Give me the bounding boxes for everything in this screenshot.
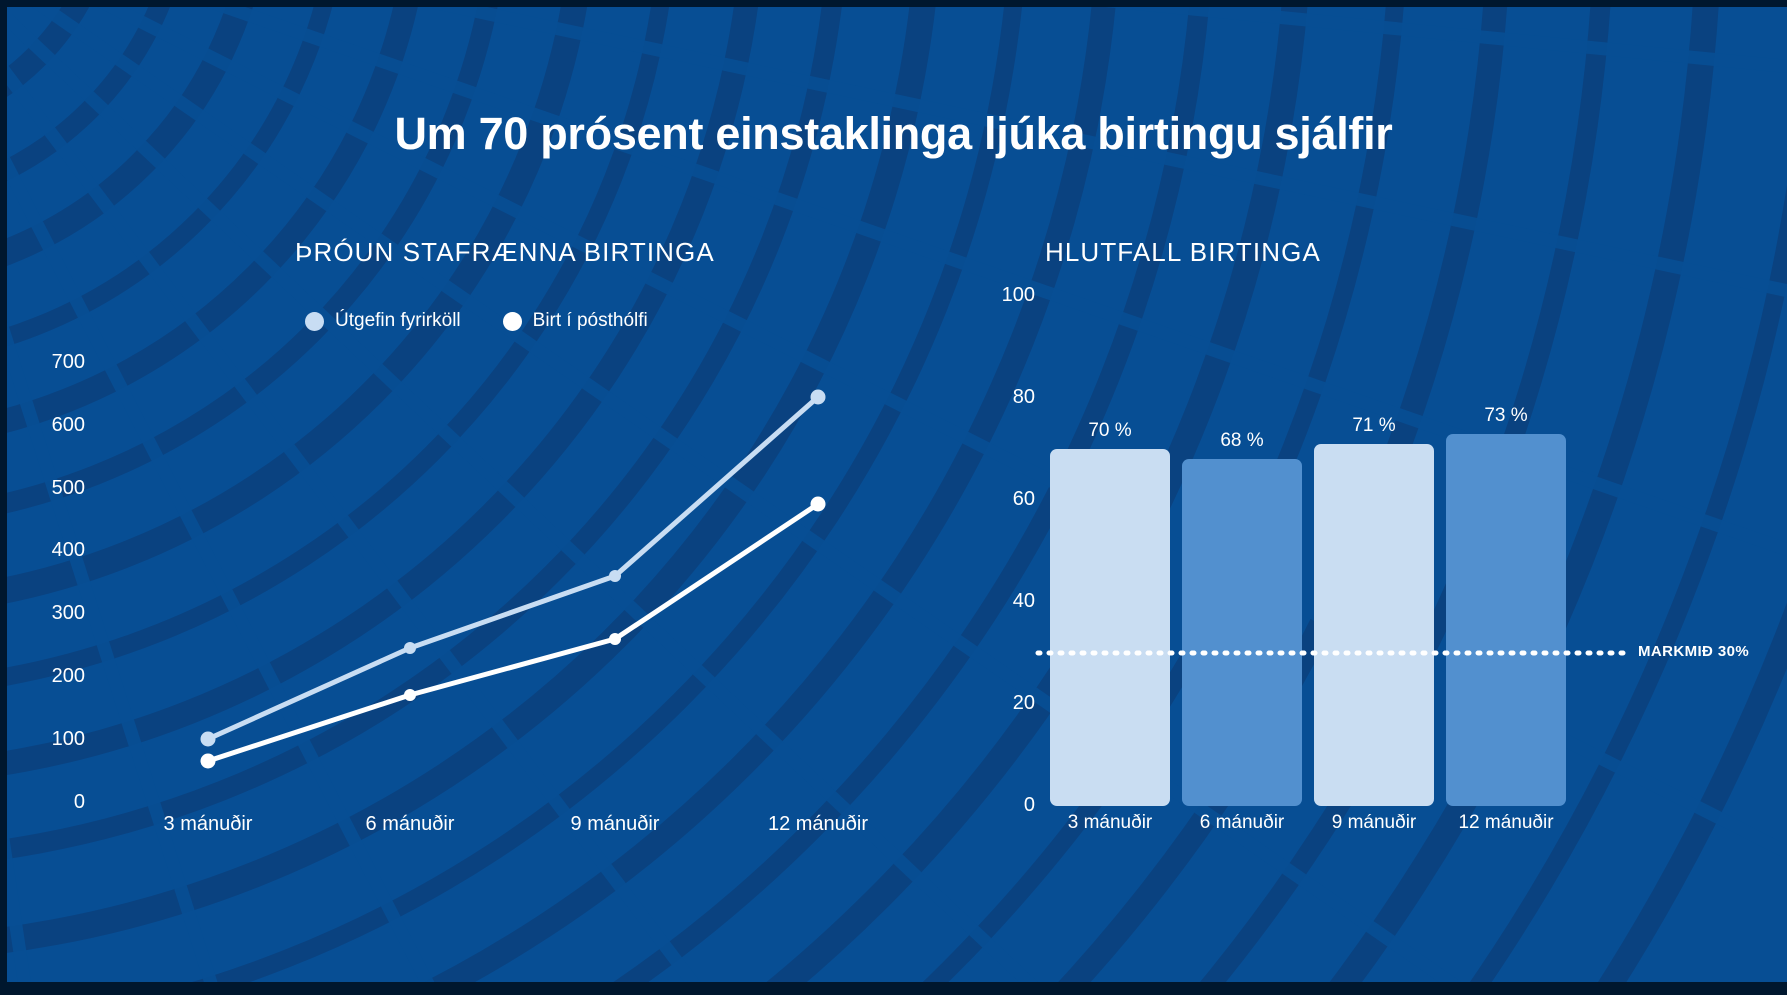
- bar-6-manudir: [1182, 459, 1302, 806]
- bar-value-label-6-manudir: 68 %: [1182, 430, 1302, 452]
- line-point: [811, 390, 826, 405]
- bar-3-manudir: [1050, 449, 1170, 806]
- line-x-tick-9-manudir: 9 mánuðir: [525, 813, 705, 836]
- slide-top-border: [0, 0, 1787, 7]
- bar-9-manudir: [1314, 444, 1434, 806]
- line-point: [404, 642, 416, 654]
- line-point: [609, 570, 621, 582]
- slide-bottom-border: [0, 982, 1787, 995]
- bar-value-label-3-manudir: 70 %: [1050, 420, 1170, 442]
- bar-chart-panel: HLUTFALL BIRTINGA 100 80 60 40 20 0: [990, 0, 1787, 995]
- bar-value-label-9-manudir: 71 %: [1314, 415, 1434, 437]
- line-x-tick-6-manudir: 6 mánuðir: [320, 813, 500, 836]
- bar-x-tick-6-manudir: 6 mánuðir: [1172, 812, 1312, 834]
- slide-left-border: [0, 0, 7, 995]
- target-annotation-label: MARKMIÐ 30%: [1638, 643, 1749, 660]
- bar-x-tick-3-manudir: 3 mánuðir: [1040, 812, 1180, 834]
- bar-x-tick-9-manudir: 9 mánuðir: [1304, 812, 1444, 834]
- bar-value-label-12-manudir: 73 %: [1446, 405, 1566, 427]
- line-chart-plot: [0, 0, 990, 995]
- line-chart-panel: ÞRÓUN STAFRÆNNA BIRTINGA Útgefin fyrirkö…: [0, 0, 990, 995]
- line-point: [609, 633, 621, 645]
- line-point: [201, 732, 216, 747]
- slide-root: Um 70 prósent einstaklinga ljúka birting…: [0, 0, 1787, 995]
- line-series-utgefin-fyrirkoll: [208, 397, 818, 739]
- line-series-birt-i-postholfi: [208, 504, 818, 761]
- line-point: [811, 497, 826, 512]
- bar-12-manudir: [1446, 434, 1566, 806]
- bar-x-tick-12-manudir: 12 mánuðir: [1436, 812, 1576, 834]
- line-x-tick-12-manudir: 12 mánuðir: [728, 813, 908, 836]
- slide-content: Um 70 prósent einstaklinga ljúka birting…: [0, 0, 1787, 995]
- line-x-tick-3-manudir: 3 mánuðir: [118, 813, 298, 836]
- bar-chart-plot: [990, 0, 1787, 995]
- line-point: [201, 754, 216, 769]
- line-point: [404, 689, 416, 701]
